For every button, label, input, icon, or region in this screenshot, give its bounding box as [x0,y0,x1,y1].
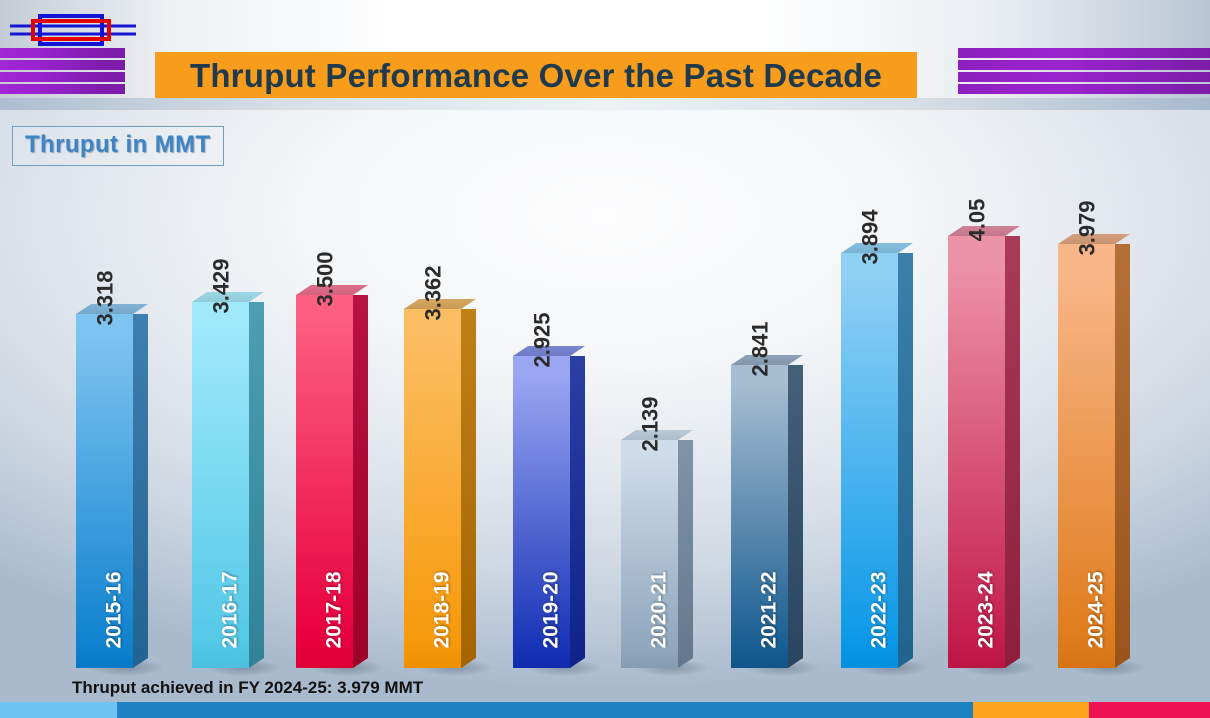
bar-top-face [1058,234,1115,244]
bar-group: 2015-163.318 [76,314,148,668]
bar-group: 2016-173.429 [192,302,264,668]
bar-value-label: 3.318 [76,272,133,298]
segment-light-blue [0,702,117,718]
bar-front-face [296,295,353,668]
bar-value-label: 2.925 [513,314,570,340]
bar-2016-17[interactable] [192,302,249,668]
bar-group: 2017-183.500 [296,295,368,668]
bar-top-face [841,243,898,253]
bar-value-label: 3.979 [1058,202,1115,228]
bar-top-face [76,304,133,314]
bar-2024-25[interactable] [1058,244,1115,668]
bar-front-face [621,440,678,668]
header-band: Thruput Performance Over the Past Decade [0,0,1210,108]
bar-group: 2018-193.362 [404,309,476,668]
bar-top-face [948,226,1005,236]
bar-top-face [404,299,461,309]
bar-value-label: 2.139 [621,398,678,424]
bottom-accent-bar [0,702,1210,718]
bar-value-label: 3.362 [404,267,461,293]
bar-side-face [898,253,913,668]
bar-front-face [731,365,788,668]
bar-value-label: 4.05 [948,194,1005,220]
bar-2023-24[interactable] [948,236,1005,668]
page-title: Thruput Performance Over the Past Decade [155,52,917,99]
slide-root: Thruput Performance Over the Past Decade… [0,0,1210,718]
bar-front-face [1058,244,1115,668]
bar-top-face [296,285,353,295]
bar-top-face [621,430,678,440]
bar-side-face [461,309,476,668]
bar-front-face [513,356,570,668]
bar-2017-18[interactable] [296,295,353,668]
bar-side-face [1115,244,1130,668]
bar-front-face [76,314,133,668]
bar-value-label: 3.500 [296,253,353,279]
bar-value-label: 3.894 [841,211,898,237]
pipeline-logo-icon [8,14,138,46]
bar-2022-23[interactable] [841,253,898,668]
bar-chart: 2015-163.3182016-173.4292017-183.5002018… [0,108,1210,680]
bar-group: 2023-244.05 [948,236,1020,668]
bar-value-label: 3.429 [192,260,249,286]
bar-side-face [788,365,803,668]
bar-side-face [353,295,368,668]
segment-blue [117,702,972,718]
bar-2020-21[interactable] [621,440,678,668]
bar-2018-19[interactable] [404,309,461,668]
bar-front-face [948,236,1005,668]
bar-value-label: 2.841 [731,323,788,349]
bar-side-face [249,302,264,668]
bar-top-face [192,292,249,302]
bar-side-face [570,356,585,668]
bar-2021-22[interactable] [731,365,788,668]
bar-group: 2020-212.139 [621,440,693,668]
bar-2015-16[interactable] [76,314,133,668]
segment-crimson [1089,702,1210,718]
bar-group: 2022-233.894 [841,253,913,668]
bar-top-face [731,355,788,365]
bar-front-face [841,253,898,668]
segment-orange [973,702,1089,718]
bar-side-face [678,440,693,668]
bar-group: 2024-253.979 [1058,244,1130,668]
bar-side-face [1005,236,1020,668]
bar-top-face [513,346,570,356]
header-stripes-right [958,48,1210,96]
bar-front-face [404,309,461,668]
footer-note: Thruput achieved in FY 2024-25: 3.979 MM… [72,678,423,698]
bar-group: 2019-202.925 [513,356,585,668]
bar-side-face [133,314,148,668]
header-stripes-left [0,48,125,96]
page-title-text: Thruput Performance Over the Past Decade [190,57,882,95]
bar-front-face [192,302,249,668]
bar-2019-20[interactable] [513,356,570,668]
bar-group: 2021-222.841 [731,365,803,668]
